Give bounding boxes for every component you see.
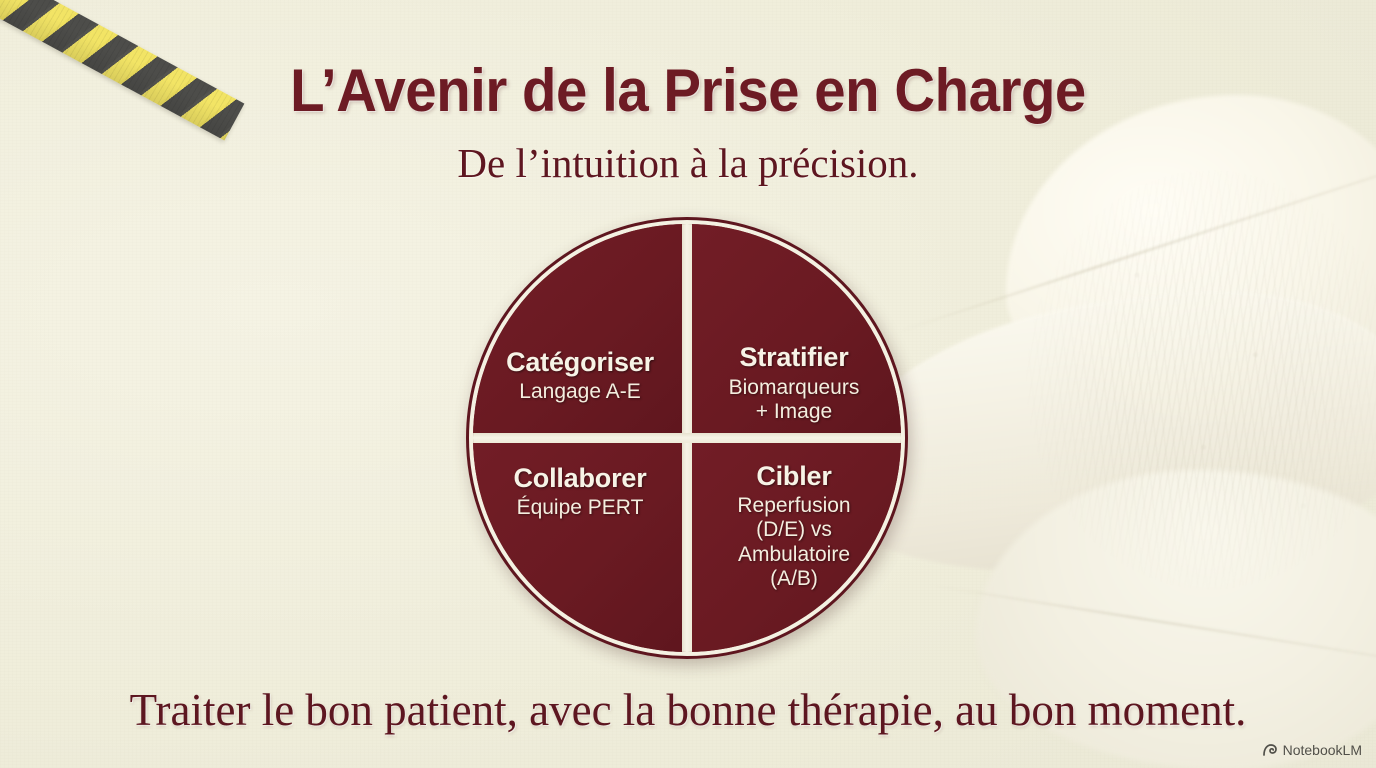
quadrant-categoriser[interactable]: Catégoriser Langage A-E (473, 224, 687, 438)
wheel-horizontal-divider (473, 433, 901, 443)
quadrant-title: Catégoriser (506, 348, 654, 376)
quadrant-subtitle: Langage A-E (519, 380, 640, 404)
slide-canvas: L’Avenir de la Prise en Charge De l’intu… (0, 0, 1376, 768)
quadrant-subtitle: Équipe PERT (517, 496, 644, 520)
slide-tagline: Traiter le bon patient, avec la bonne th… (0, 684, 1376, 736)
notebooklm-spiral-icon (1262, 743, 1278, 757)
quadrant-title: Collaborer (513, 464, 646, 492)
notebooklm-label: NotebookLM (1283, 742, 1362, 758)
quadrant-subtitle: Biomarqueurs + Image (729, 376, 860, 424)
quadrant-stratifier[interactable]: Stratifier Biomarqueurs + Image (687, 224, 901, 438)
page-subtitle: De l’intuition à la précision. (0, 139, 1376, 187)
quadrant-collaborer[interactable]: Collaborer Équipe PERT (473, 438, 687, 652)
quadrant-subtitle: Reperfusion (D/E) vs Ambulatoire (A/B) (737, 494, 850, 591)
quadrant-wheel-diagram: Catégoriser Langage A-E Stratifier Bioma… (466, 217, 908, 659)
quadrant-title: Cibler (756, 462, 831, 490)
notebooklm-watermark: NotebookLM (1262, 742, 1362, 758)
wheel-inner-disc: Catégoriser Langage A-E Stratifier Bioma… (473, 224, 901, 652)
quadrant-cibler[interactable]: Cibler Reperfusion (D/E) vs Ambulatoire … (687, 438, 901, 652)
page-title: L’Avenir de la Prise en Charge (41, 56, 1334, 125)
quadrant-title: Stratifier (739, 343, 848, 371)
